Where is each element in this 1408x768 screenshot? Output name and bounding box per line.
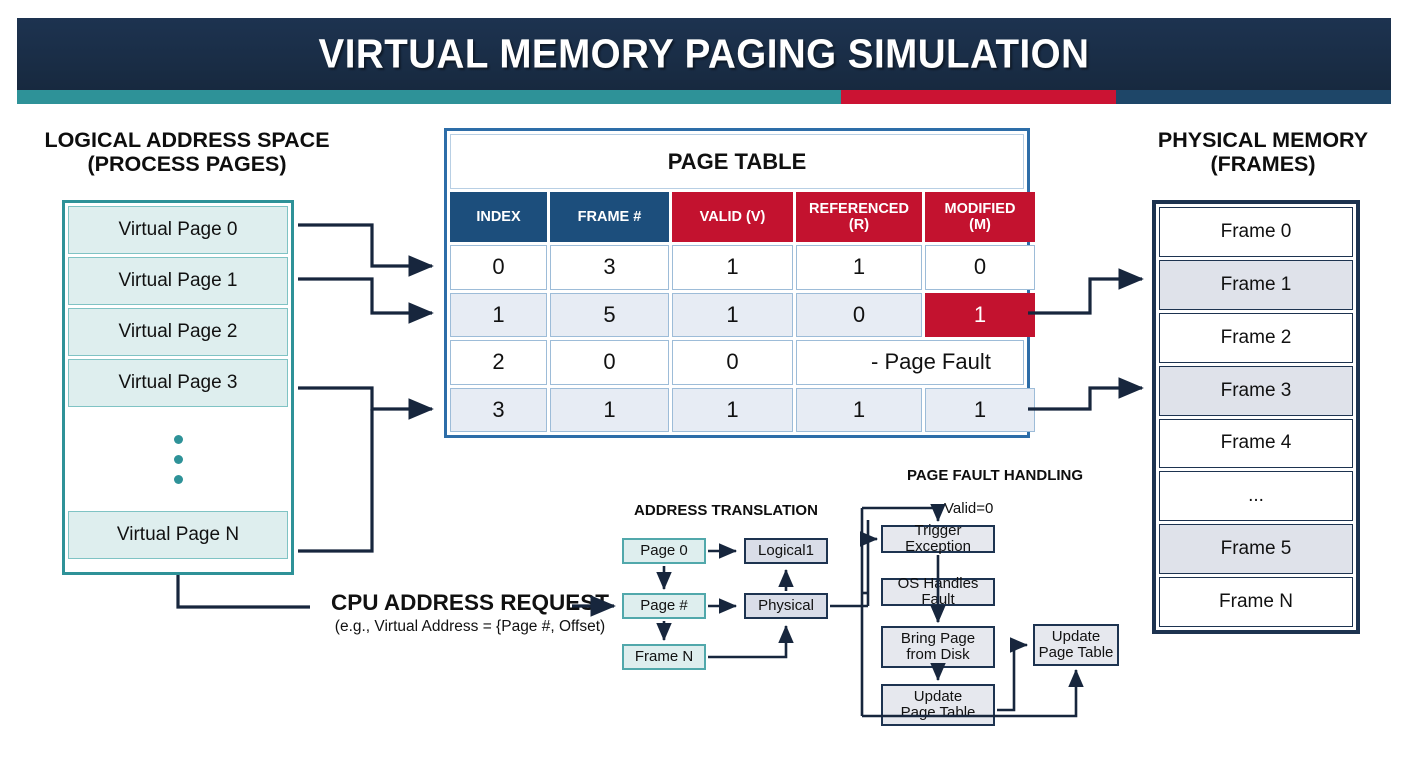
page-fault-entry-label: Valid=0 (944, 500, 993, 517)
logical-address-space-box: Virtual Page 0Virtual Page 1Virtual Page… (62, 200, 294, 575)
page-table-cell-index[interactable]: 2 (450, 340, 547, 385)
page-table-cell-index[interactable]: 3 (450, 388, 547, 433)
page-table-title: PAGE TABLE (450, 134, 1024, 189)
page-title: VIRTUAL MEMORY PAGING SIMULATION (58, 31, 1350, 78)
pf-node-update-page-table-left[interactable]: Update Page Table (881, 684, 995, 726)
physical-frame-cell[interactable]: Frame 3 (1159, 366, 1353, 416)
page-table-column-header: INDEX (450, 192, 547, 242)
at-node-page-num[interactable]: Page # (622, 593, 706, 619)
page-table-cell-valid[interactable]: 1 (672, 293, 793, 338)
column-header-sublabel: (M) (969, 217, 991, 233)
virtual-page-cell[interactable]: Virtual Page 2 (68, 308, 288, 356)
column-header-label: INDEX (476, 209, 520, 225)
page-table-cell-valid[interactable]: 1 (672, 245, 793, 290)
page-table-cell-modified[interactable]: 1 (925, 388, 1035, 433)
logical-title-line1: LOGICAL ADDRESS SPACE (22, 128, 352, 152)
physical-title-line2: (FRAMES) (1118, 152, 1408, 176)
page-table-cell-frame[interactable]: 5 (550, 293, 669, 338)
physical-memory-box: Frame 0Frame 1Frame 2Frame 3Frame 4...Fr… (1152, 200, 1360, 634)
page-table-column-header: MODIFIED(M) (925, 192, 1035, 242)
page-table-column-header: FRAME # (550, 192, 669, 242)
cpu-address-request: CPU ADDRESS REQUEST (e.g., Virtual Addre… (310, 590, 630, 636)
pf-node-trigger-exception[interactable]: Trigger Exception (881, 525, 995, 553)
cpu-address-request-label: CPU ADDRESS REQUEST (310, 590, 630, 616)
column-header-label: REFERENCED (809, 201, 909, 217)
page-table: PAGE TABLE INDEXFRAME #VALID (V)REFERENC… (444, 128, 1030, 438)
at-node-page0[interactable]: Page 0 (622, 538, 706, 564)
page-table-header-row: INDEXFRAME #VALID (V)REFERENCED(R)MODIFI… (450, 192, 1024, 242)
ellipsis-dot-icon (174, 455, 183, 464)
column-header-sublabel: (R) (849, 217, 869, 233)
virtual-page-cell[interactable]: Virtual Page 1 (68, 257, 288, 305)
page-table-row[interactable]: 200- Page Fault (450, 340, 1024, 385)
accent-strip (17, 90, 1391, 104)
page-table-row[interactable]: 03110 (450, 245, 1024, 290)
page-table-cell-valid[interactable]: 0 (672, 340, 793, 385)
physical-title-line1: PHYSICAL MEMORY (1118, 128, 1408, 152)
physical-frame-cell[interactable]: Frame 0 (1159, 207, 1353, 257)
page-table-cell-modified[interactable]: 1 (925, 293, 1035, 338)
accent-segment-red (841, 90, 1116, 104)
page-fault-handling-title: PAGE FAULT HANDLING (850, 468, 1140, 485)
page-table-column-header: REFERENCED(R) (796, 192, 922, 242)
pf-node-update-page-table-right[interactable]: Update Page Table (1033, 624, 1119, 666)
page-table-cell-referenced[interactable]: 0 (796, 293, 922, 338)
column-header-label: VALID (V) (700, 209, 766, 225)
pf-node-bring-page-from-disk[interactable]: Bring Page from Disk (881, 626, 995, 668)
physical-frame-cell[interactable]: Frame 4 (1159, 419, 1353, 469)
virtual-page-cell[interactable]: Virtual Page 3 (68, 359, 288, 407)
accent-segment-navy (1116, 90, 1391, 104)
logical-address-space-title: LOGICAL ADDRESS SPACE (PROCESS PAGES) (22, 128, 352, 176)
virtual-page-ellipsis[interactable] (68, 410, 288, 508)
at-node-logical[interactable]: Logical1 (744, 538, 828, 564)
virtual-page-cell[interactable]: Virtual Page 0 (68, 206, 288, 254)
ellipsis-dot-icon (174, 475, 183, 484)
cpu-address-request-sublabel: (e.g., Virtual Address = {Page #, Offset… (310, 618, 630, 636)
physical-frame-cell[interactable]: Frame 5 (1159, 524, 1353, 574)
pf-node-os-handles-fault[interactable]: OS Handles Fault (881, 578, 995, 606)
page-table-cell-referenced[interactable]: 1 (796, 245, 922, 290)
physical-frame-cell[interactable]: Frame N (1159, 577, 1353, 627)
physical-memory-title: PHYSICAL MEMORY (FRAMES) (1118, 128, 1408, 176)
column-header-label: MODIFIED (945, 201, 1016, 217)
page-fault-note[interactable]: - Page Fault (796, 340, 1024, 385)
accent-segment-teal (17, 90, 841, 104)
page-table-cell-referenced[interactable]: 1 (796, 388, 922, 433)
physical-frame-cell[interactable]: Frame 1 (1159, 260, 1353, 310)
at-node-frame-n[interactable]: Frame N (622, 644, 706, 670)
at-node-physical[interactable]: Physical (744, 593, 828, 619)
page-table-cell-frame[interactable]: 3 (550, 245, 669, 290)
virtual-page-cell[interactable]: Virtual Page N (68, 511, 288, 559)
column-header-label: FRAME # (578, 209, 642, 225)
physical-frame-cell[interactable]: ... (1159, 471, 1353, 521)
logical-title-line2: (PROCESS PAGES) (22, 152, 352, 176)
address-translation-title: ADDRESS TRANSLATION (596, 503, 856, 520)
page-table-cell-modified[interactable]: 0 (925, 245, 1035, 290)
page-table-cell-valid[interactable]: 1 (672, 388, 793, 433)
physical-frame-cell[interactable]: Frame 2 (1159, 313, 1353, 363)
diagram-canvas: VIRTUAL MEMORY PAGING SIMULATION LOGICAL… (0, 0, 1408, 768)
page-table-cell-index[interactable]: 1 (450, 293, 547, 338)
ellipsis-dot-icon (174, 435, 183, 444)
page-table-body: 0311015101200- Page Fault31111 (450, 245, 1024, 432)
page-table-cell-frame[interactable]: 0 (550, 340, 669, 385)
page-table-row[interactable]: 15101 (450, 293, 1024, 338)
page-table-column-header: VALID (V) (672, 192, 793, 242)
page-table-cell-index[interactable]: 0 (450, 245, 547, 290)
page-table-cell-frame[interactable]: 1 (550, 388, 669, 433)
header-bar: VIRTUAL MEMORY PAGING SIMULATION (17, 18, 1391, 90)
page-table-row[interactable]: 31111 (450, 388, 1024, 433)
